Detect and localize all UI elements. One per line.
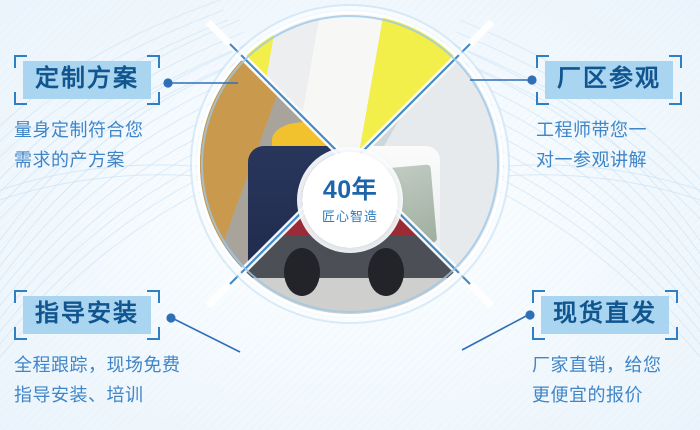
corner-bracket-icon: [147, 92, 160, 105]
corner-bracket-icon: [669, 55, 682, 68]
feature-stock-direct-shipping[interactable]: 现货直发 厂家直销，给您 更便宜的报价: [532, 290, 678, 410]
feature-title-frame: 指导安装: [14, 290, 160, 340]
feature-title: 指导安装: [23, 296, 151, 334]
feature-desc-line-1: 全程跟踪，现场免费: [14, 352, 181, 380]
feature-installation-guidance[interactable]: 指导安装 全程跟踪，现场免费 指导安装、培训: [14, 290, 181, 410]
corner-bracket-icon: [669, 92, 682, 105]
feature-desc-line-2: 指导安装、培训: [14, 382, 181, 410]
feature-desc-line-2: 更便宜的报价: [532, 382, 678, 410]
feature-title: 厂区参观: [545, 61, 673, 99]
corner-bracket-icon: [532, 290, 545, 303]
corner-bracket-icon: [14, 327, 27, 340]
feature-desc-line-1: 量身定制符合您: [14, 117, 160, 145]
corner-bracket-icon: [536, 92, 549, 105]
feature-title: 现货直发: [541, 296, 669, 334]
feature-desc-line-2: 需求的产方案: [14, 147, 160, 175]
corner-bracket-icon: [536, 55, 549, 68]
corner-bracket-icon: [665, 327, 678, 340]
promo-banner: 40年 匠心智造 定制方案 量身定制: [0, 0, 700, 430]
corner-bracket-icon: [14, 92, 27, 105]
feature-desc-line-2: 对一参观讲解: [536, 147, 682, 175]
feature-desc-line-1: 厂家直销，给您: [532, 352, 678, 380]
decor-truck-wheel: [368, 248, 404, 296]
corner-bracket-icon: [147, 55, 160, 68]
corner-bracket-icon: [147, 327, 160, 340]
feature-factory-tour[interactable]: 厂区参观 工程师带您一 对一参观讲解: [536, 55, 682, 175]
center-badge: 40年 匠心智造: [302, 152, 398, 248]
corner-bracket-icon: [14, 55, 27, 68]
feature-title-frame: 厂区参观: [536, 55, 682, 105]
corner-bracket-icon: [14, 290, 27, 303]
corner-bracket-icon: [665, 290, 678, 303]
feature-title-frame: 现货直发: [532, 290, 678, 340]
feature-title-frame: 定制方案: [14, 55, 160, 105]
feature-custom-solution[interactable]: 定制方案 量身定制符合您 需求的产方案: [14, 55, 160, 175]
feature-title: 定制方案: [23, 61, 151, 99]
decor-truck-wheel: [284, 248, 320, 296]
corner-bracket-icon: [532, 327, 545, 340]
corner-bracket-icon: [147, 290, 160, 303]
badge-headline: 40年: [323, 178, 377, 203]
badge-subline: 匠心智造: [322, 210, 378, 223]
feature-desc-line-1: 工程师带您一: [536, 117, 682, 145]
